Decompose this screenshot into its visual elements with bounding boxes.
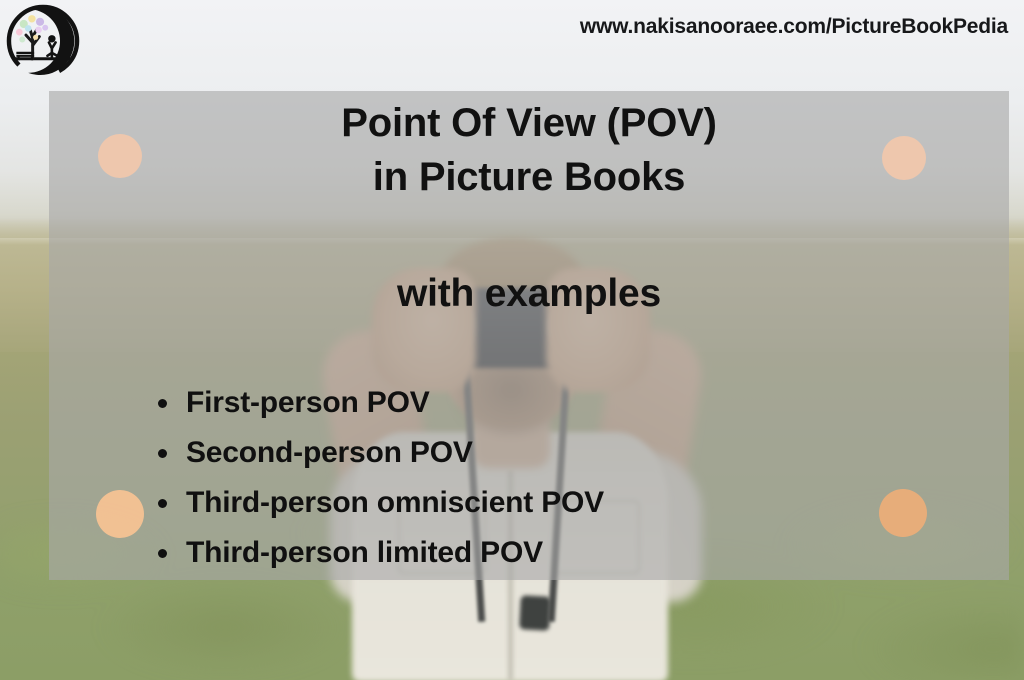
list-item: Third-person omniscient POV [158,486,604,520]
peach-dot-bottom-left-icon [96,490,144,538]
pov-type-list: First-person POV Second-person POV Third… [158,386,604,570]
slide-canvas: Point Of View (POV) in Picture Books wit… [0,0,1024,680]
bullet-dot-icon [158,399,167,408]
slide-subtitle: with examples [49,272,1009,316]
list-item: First-person POV [158,386,604,420]
binoculars-strap-pad [519,595,551,631]
slide-title-line-2: in Picture Books [49,150,1009,204]
list-item-label: Third-person omniscient POV [186,486,604,519]
list-item: Third-person limited POV [158,536,604,570]
list-item: Second-person POV [158,436,604,470]
list-item-label: First-person POV [186,386,430,419]
list-item-label: Third-person limited POV [186,536,543,569]
peach-dot-bottom-right-icon [879,489,927,537]
bullet-dot-icon [158,549,167,558]
site-url-text: www.nakisanooraee.com/PictureBookPedia [580,15,1008,39]
bullet-dot-icon [158,449,167,458]
slide-title: Point Of View (POV) in Picture Books [49,96,1009,204]
slide-title-line-1: Point Of View (POV) [341,101,717,145]
brand-logo-icon [6,4,80,78]
list-item-label: Second-person POV [186,436,473,469]
bullet-dot-icon [158,499,167,508]
